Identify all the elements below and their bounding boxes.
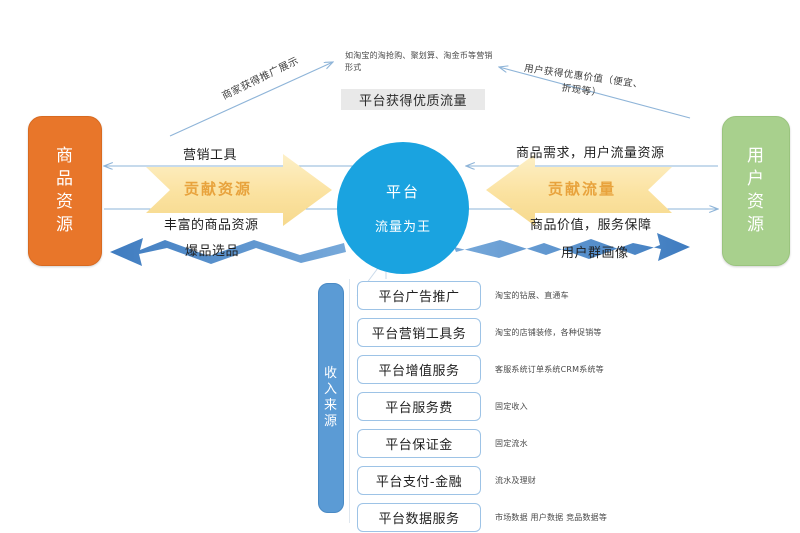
label-user-portrait: 用户群画像: [561, 242, 629, 261]
revenue-item-box[interactable]: 平台支付-金融: [357, 466, 481, 495]
revenue-source-bar[interactable]: 收入来源: [318, 283, 344, 513]
revenue-source-label: 收入来源: [324, 366, 338, 431]
revenue-row[interactable]: 平台服务费 固定收入: [357, 390, 657, 423]
revenue-item-label: 平台广告推广: [378, 286, 459, 305]
diagram-canvas: 商品资源 用户资源 平台 流量为王 平台获得优质流量 如淘宝的淘抢购、聚划算、淘…: [0, 0, 800, 533]
revenue-item-note: 固定收入: [495, 401, 528, 412]
revenue-row[interactable]: 平台营销工具务 淘宝的店铺装修，各种促销等: [357, 316, 657, 349]
revenue-item-label: 平台数据服务: [378, 508, 459, 527]
revenue-item-label: 平台服务费: [385, 397, 453, 416]
revenue-source-list: 平台广告推广 淘宝的钻展、直通车 平台营销工具务 淘宝的店铺装修，各种促销等 平…: [357, 279, 657, 533]
platform-title: 平台: [386, 181, 420, 202]
label-rich-goods-resource: 丰富的商品资源: [164, 214, 259, 233]
chevron-label-contribute-traffic: 贡献流量: [548, 178, 616, 199]
label-marketing-tool: 营销工具: [183, 144, 237, 163]
platform-quality-traffic-label: 平台获得优质流量: [359, 90, 467, 109]
revenue-item-note: 淘宝的钻展、直通车: [495, 290, 569, 301]
revenue-item-box[interactable]: 平台广告推广: [357, 281, 481, 310]
platform-circle[interactable]: 平台 流量为王: [337, 142, 469, 274]
platform-subtitle: 流量为王: [375, 216, 431, 235]
revenue-item-box[interactable]: 平台增值服务: [357, 355, 481, 384]
revenue-item-box[interactable]: 平台服务费: [357, 392, 481, 421]
label-demand-and-traffic: 商品需求，用户流量资源: [516, 142, 665, 161]
revenue-row[interactable]: 平台保证金 固定流水: [357, 427, 657, 460]
note-marketing-forms: 如淘宝的淘抢购、聚划算、淘金币等营销形式: [345, 50, 495, 73]
platform-quality-traffic-banner: 平台获得优质流量: [341, 89, 485, 110]
revenue-item-label: 平台增值服务: [378, 360, 459, 379]
label-hot-product-selection: 爆品选品: [185, 240, 239, 259]
goods-resource-box[interactable]: 商品资源: [28, 116, 102, 266]
label-value-and-service: 商品价值，服务保障: [530, 214, 652, 233]
chevron-label-contribute-resource: 贡献资源: [184, 178, 252, 199]
revenue-row[interactable]: 平台广告推广 淘宝的钻展、直通车: [357, 279, 657, 312]
goods-resource-label: 商品资源: [55, 145, 75, 237]
user-resource-label: 用户资源: [746, 145, 766, 237]
revenue-item-note: 淘宝的店铺装修，各种促销等: [495, 327, 602, 338]
revenue-item-box[interactable]: 平台保证金: [357, 429, 481, 458]
user-resource-box[interactable]: 用户资源: [722, 116, 790, 266]
revenue-row[interactable]: 平台增值服务 客服系统订单系统CRM系统等: [357, 353, 657, 386]
revenue-item-note: 流水及理财: [495, 475, 536, 486]
revenue-item-label: 平台保证金: [385, 434, 453, 453]
revenue-row[interactable]: 平台数据服务 市场数据 用户数据 竞品数据等: [357, 501, 657, 533]
revenue-item-note: 客服系统订单系统CRM系统等: [495, 364, 604, 375]
revenue-item-box[interactable]: 平台营销工具务: [357, 318, 481, 347]
revenue-item-note: 固定流水: [495, 438, 528, 449]
revenue-item-label: 平台支付-金融: [376, 471, 462, 490]
revenue-item-label: 平台营销工具务: [372, 323, 467, 342]
revenue-row[interactable]: 平台支付-金融 流水及理财: [357, 464, 657, 497]
revenue-list-rail: [349, 279, 350, 523]
revenue-item-box[interactable]: 平台数据服务: [357, 503, 481, 532]
revenue-item-note: 市场数据 用户数据 竞品数据等: [495, 512, 607, 523]
